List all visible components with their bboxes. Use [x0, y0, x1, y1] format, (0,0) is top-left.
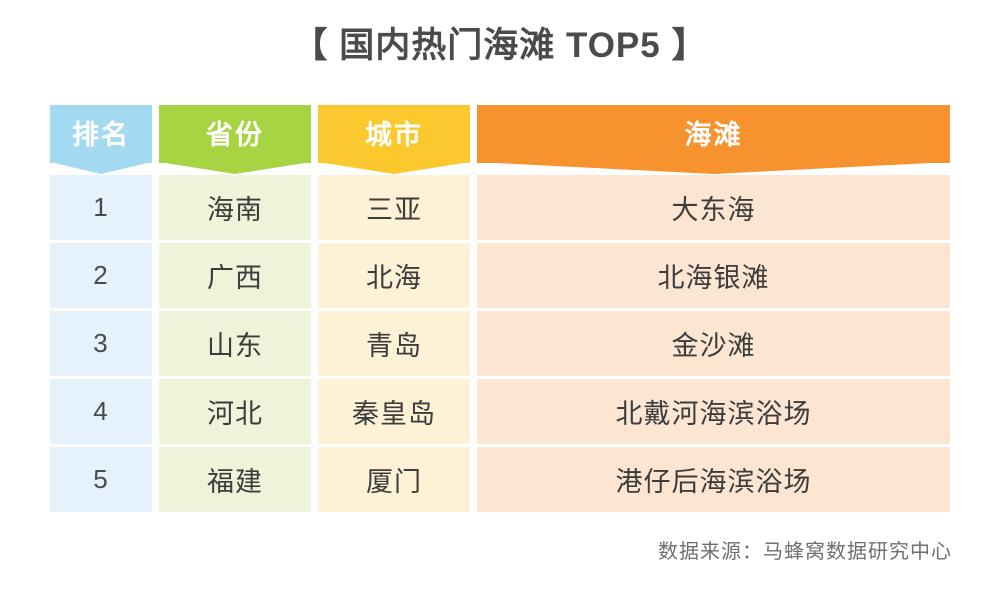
table-cell-beach: 北戴河海滨浴场 [477, 379, 950, 444]
table-cell-city: 青岛 [318, 311, 470, 376]
column-header-province-label: 省份 [206, 113, 264, 152]
column-header-province: 省份 [159, 105, 311, 163]
table-cell-province: 福建 [159, 447, 311, 512]
column-province: 海南 广西 山东 河北 福建 [159, 175, 311, 512]
table-cell-beach: 大东海 [477, 175, 950, 240]
table-cell-rank: 1 [50, 175, 152, 240]
column-city: 三亚 北海 青岛 秦皇岛 厦门 [318, 175, 470, 512]
column-header-beach-label: 海滩 [685, 113, 743, 152]
table-cell-beach: 金沙滩 [477, 311, 950, 376]
table-cell-province: 海南 [159, 175, 311, 240]
table-cell-city: 厦门 [318, 447, 470, 512]
table-body: 1 2 3 4 5 海南 广西 山东 河北 福建 三亚 北海 青岛 秦皇岛 厦门 [50, 175, 950, 512]
table-cell-city: 秦皇岛 [318, 379, 470, 444]
column-rank: 1 2 3 4 5 [50, 175, 152, 512]
header-notch-icon [477, 162, 950, 174]
top5-beach-table: 排名 省份 城市 海滩 [50, 105, 950, 512]
page-title: 【 国内热门海滩 TOP5 】 [0, 22, 1000, 70]
table-cell-province: 河北 [159, 379, 311, 444]
table-cell-rank: 2 [50, 243, 152, 308]
table-header-row: 排名 省份 城市 海滩 [50, 105, 950, 163]
table-cell-city: 三亚 [318, 175, 470, 240]
table-cell-rank: 4 [50, 379, 152, 444]
table-cell-rank: 3 [50, 311, 152, 376]
table-cell-province: 广西 [159, 243, 311, 308]
column-header-beach: 海滩 [477, 105, 950, 163]
column-header-city-label: 城市 [365, 113, 423, 152]
column-header-rank-label: 排名 [72, 113, 130, 152]
header-notch-icon [50, 162, 152, 174]
header-notch-icon [318, 162, 470, 174]
table-cell-city: 北海 [318, 243, 470, 308]
table-cell-rank: 5 [50, 447, 152, 512]
table-cell-beach: 北海银滩 [477, 243, 950, 308]
column-header-city: 城市 [318, 105, 470, 163]
table-cell-beach: 港仔后海滨浴场 [477, 447, 950, 512]
column-header-rank: 排名 [50, 105, 152, 163]
data-source-note: 数据来源：马蜂窝数据研究中心 [658, 535, 952, 564]
header-notch-icon [159, 162, 311, 174]
column-beach: 大东海 北海银滩 金沙滩 北戴河海滨浴场 港仔后海滨浴场 [477, 175, 950, 512]
table-cell-province: 山东 [159, 311, 311, 376]
infographic-page: 【 国内热门海滩 TOP5 】 排名 省份 城市 [0, 0, 1000, 599]
